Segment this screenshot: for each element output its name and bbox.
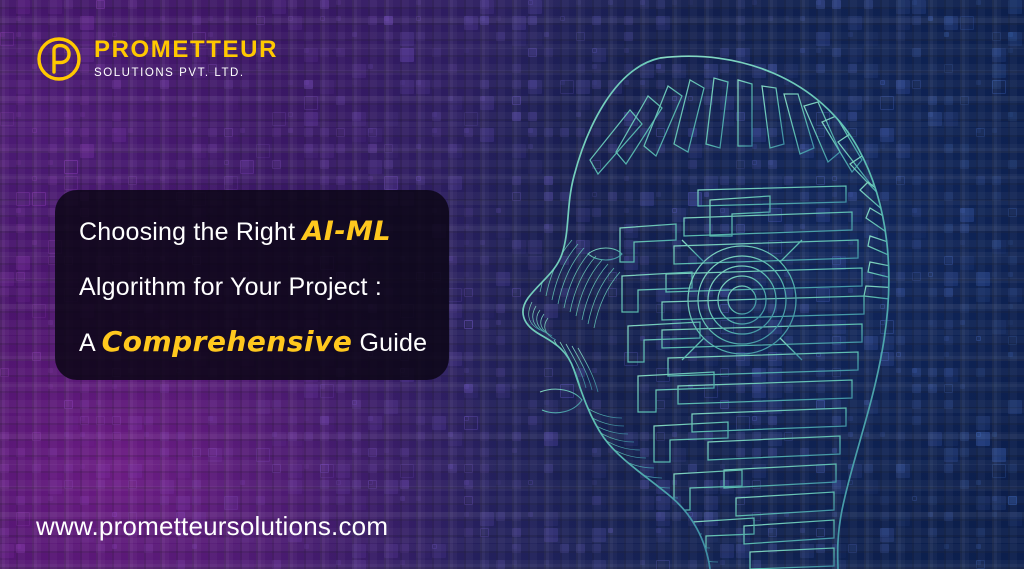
headline-accent-comprehensive: Comprehensive	[102, 325, 353, 358]
website-url[interactable]: www.prometteursolutions.com	[36, 511, 388, 542]
headline-accent-ai-ml: AI-ML	[302, 216, 391, 247]
brand-tagline: SOLUTIONS PVT. LTD.	[94, 68, 278, 80]
headline-line-1: Choosing the Right AI-ML	[79, 216, 423, 247]
prometteur-monogram-icon	[36, 36, 82, 82]
headline-line-3-prefix: A	[79, 329, 95, 357]
headline-card: Choosing the Right AI-ML Algorithm for Y…	[55, 190, 449, 380]
brand-name: PROMETTEUR	[94, 38, 278, 62]
headline-line-3-suffix: Guide	[359, 329, 427, 357]
wireframe-head-illustration	[470, 40, 940, 569]
headline-line-3: A Comprehensive Guide	[79, 325, 423, 380]
headline-line-1-plain: Choosing the Right	[79, 218, 295, 246]
headline-line-2: Algorithm for Your Project :	[79, 273, 423, 302]
marketing-banner: PROMETTEUR SOLUTIONS PVT. LTD. Choosing …	[0, 0, 1024, 569]
brand-logo[interactable]: PROMETTEUR SOLUTIONS PVT. LTD.	[36, 36, 278, 82]
